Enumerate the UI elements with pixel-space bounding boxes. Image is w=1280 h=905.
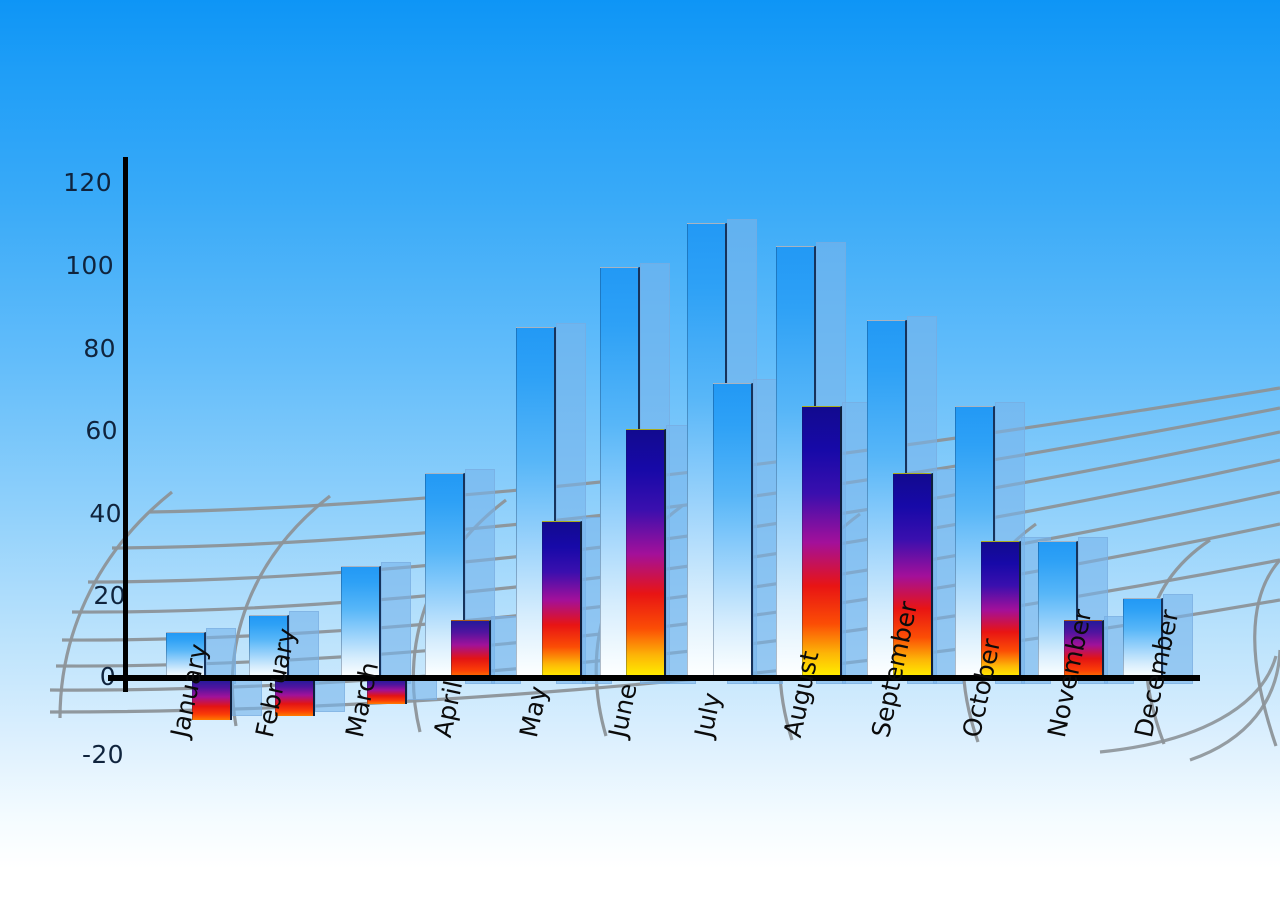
plot-area: 120 100 80 60 40 20 0 -20	[0, 0, 1280, 905]
bar-may-series2[interactable]	[542, 521, 582, 678]
ytick-label-60: 60	[66, 416, 118, 445]
bar-face	[802, 406, 842, 678]
bar-august-series2[interactable]	[802, 406, 842, 678]
bar-july-series2[interactable]	[713, 383, 753, 678]
ytick-label-80: 80	[64, 334, 116, 363]
ytick-label-20: 20	[74, 581, 126, 610]
ytick-label-40: 40	[70, 499, 122, 528]
xtick-label-may: May	[514, 683, 553, 740]
xtick-label-june: June	[603, 681, 643, 740]
chart-canvas: 120 100 80 60 40 20 0 -20	[0, 0, 1280, 905]
ytick-label-120: 120	[56, 168, 112, 197]
ytick-label-100: 100	[58, 251, 114, 280]
bar-face	[451, 620, 491, 678]
bar-face	[626, 429, 666, 678]
bar-shadow	[381, 562, 411, 684]
bar-face	[542, 521, 582, 678]
y-axis-line	[123, 157, 128, 692]
ytick-label-neg20: -20	[62, 740, 124, 769]
xtick-label-july: July	[689, 690, 727, 740]
bar-april-series2[interactable]	[451, 620, 491, 678]
bar-june-series2[interactable]	[626, 429, 666, 678]
bar-face	[713, 383, 753, 678]
